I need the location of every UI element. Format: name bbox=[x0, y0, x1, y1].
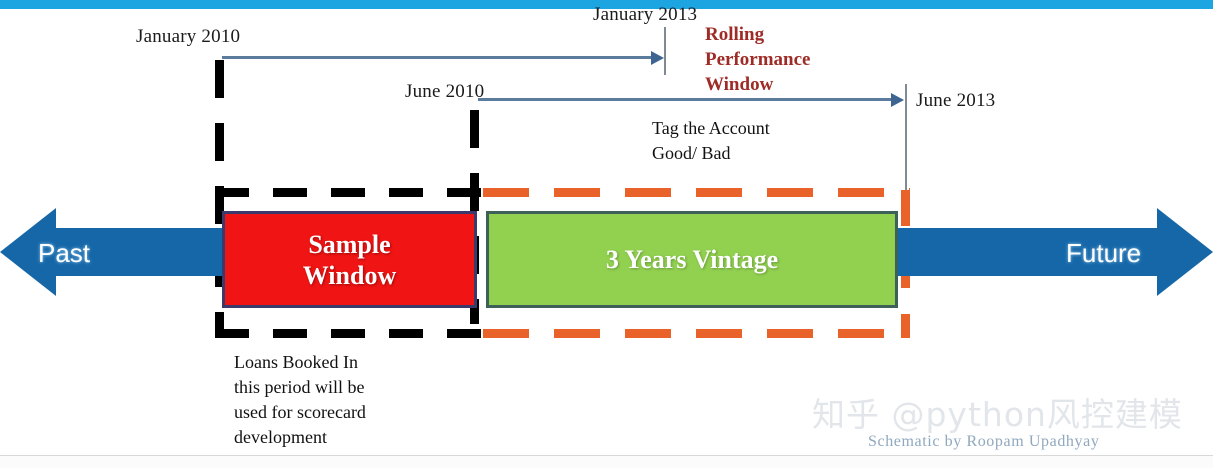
future-arrow-head bbox=[1157, 208, 1213, 296]
dashed-bottom-performance-window bbox=[483, 329, 910, 338]
future-label: Future bbox=[1066, 238, 1141, 269]
rolling-caption-line-1: Rolling bbox=[705, 22, 811, 47]
connector-arrow-sample-start-head bbox=[651, 51, 664, 65]
schematic-credit: Schematic by Roopam Upadhyay bbox=[868, 433, 1099, 451]
tag-account-line-1: Tag the Account bbox=[652, 116, 770, 141]
dashed-bottom-sample-window bbox=[215, 329, 483, 338]
date-label-june-2013: June 2013 bbox=[916, 90, 995, 112]
loans-booked-caption: Loans Booked In this period will be used… bbox=[234, 350, 366, 450]
past-timeline-arrow bbox=[0, 228, 230, 276]
diagram-canvas: January 2010 June 2010 January 2013 June… bbox=[0, 0, 1213, 468]
tag-account-caption: Tag the Account Good/ Bad bbox=[652, 116, 770, 166]
sample-window-line-1: Sample bbox=[303, 229, 396, 260]
dashed-top-sample-window bbox=[215, 188, 483, 197]
future-timeline-arrow bbox=[888, 228, 1213, 276]
sample-window-line-2: Window bbox=[303, 260, 396, 291]
tag-account-line-2: Good/ Bad bbox=[652, 141, 770, 166]
vintage-window-label: 3 Years Vintage bbox=[606, 245, 778, 275]
rolling-caption-line-3: Window bbox=[705, 72, 811, 97]
loans-booked-line-1: Loans Booked In bbox=[234, 350, 366, 375]
vintage-window-box[interactable]: 3 Years Vintage bbox=[486, 211, 898, 308]
loans-booked-line-3: used for scorecard bbox=[234, 400, 366, 425]
connector-arrow-sample-end-shaft bbox=[478, 98, 893, 101]
sample-window-box[interactable]: Sample Window bbox=[222, 211, 477, 308]
loans-booked-line-4: development bbox=[234, 425, 366, 450]
watermark-handle: 知乎 @python风控建模 bbox=[812, 388, 1183, 436]
connector-arrow-sample-start-shaft bbox=[222, 56, 653, 59]
past-label: Past bbox=[38, 238, 90, 269]
loans-booked-line-2: this period will be bbox=[234, 375, 366, 400]
date-label-january-2013: January 2013 bbox=[593, 4, 697, 26]
date-label-june-2010: June 2010 bbox=[405, 81, 484, 103]
rolling-performance-window-caption: Rolling Performance Window bbox=[705, 22, 811, 97]
tick-june-2013 bbox=[905, 84, 907, 196]
connector-arrow-sample-end-head bbox=[891, 93, 904, 107]
rolling-caption-line-2: Performance bbox=[705, 47, 811, 72]
bottom-chrome-strip bbox=[0, 455, 1213, 468]
date-label-january-2010: January 2010 bbox=[136, 26, 240, 48]
tick-january-2013 bbox=[664, 27, 666, 75]
dashed-top-performance-window bbox=[483, 188, 910, 197]
